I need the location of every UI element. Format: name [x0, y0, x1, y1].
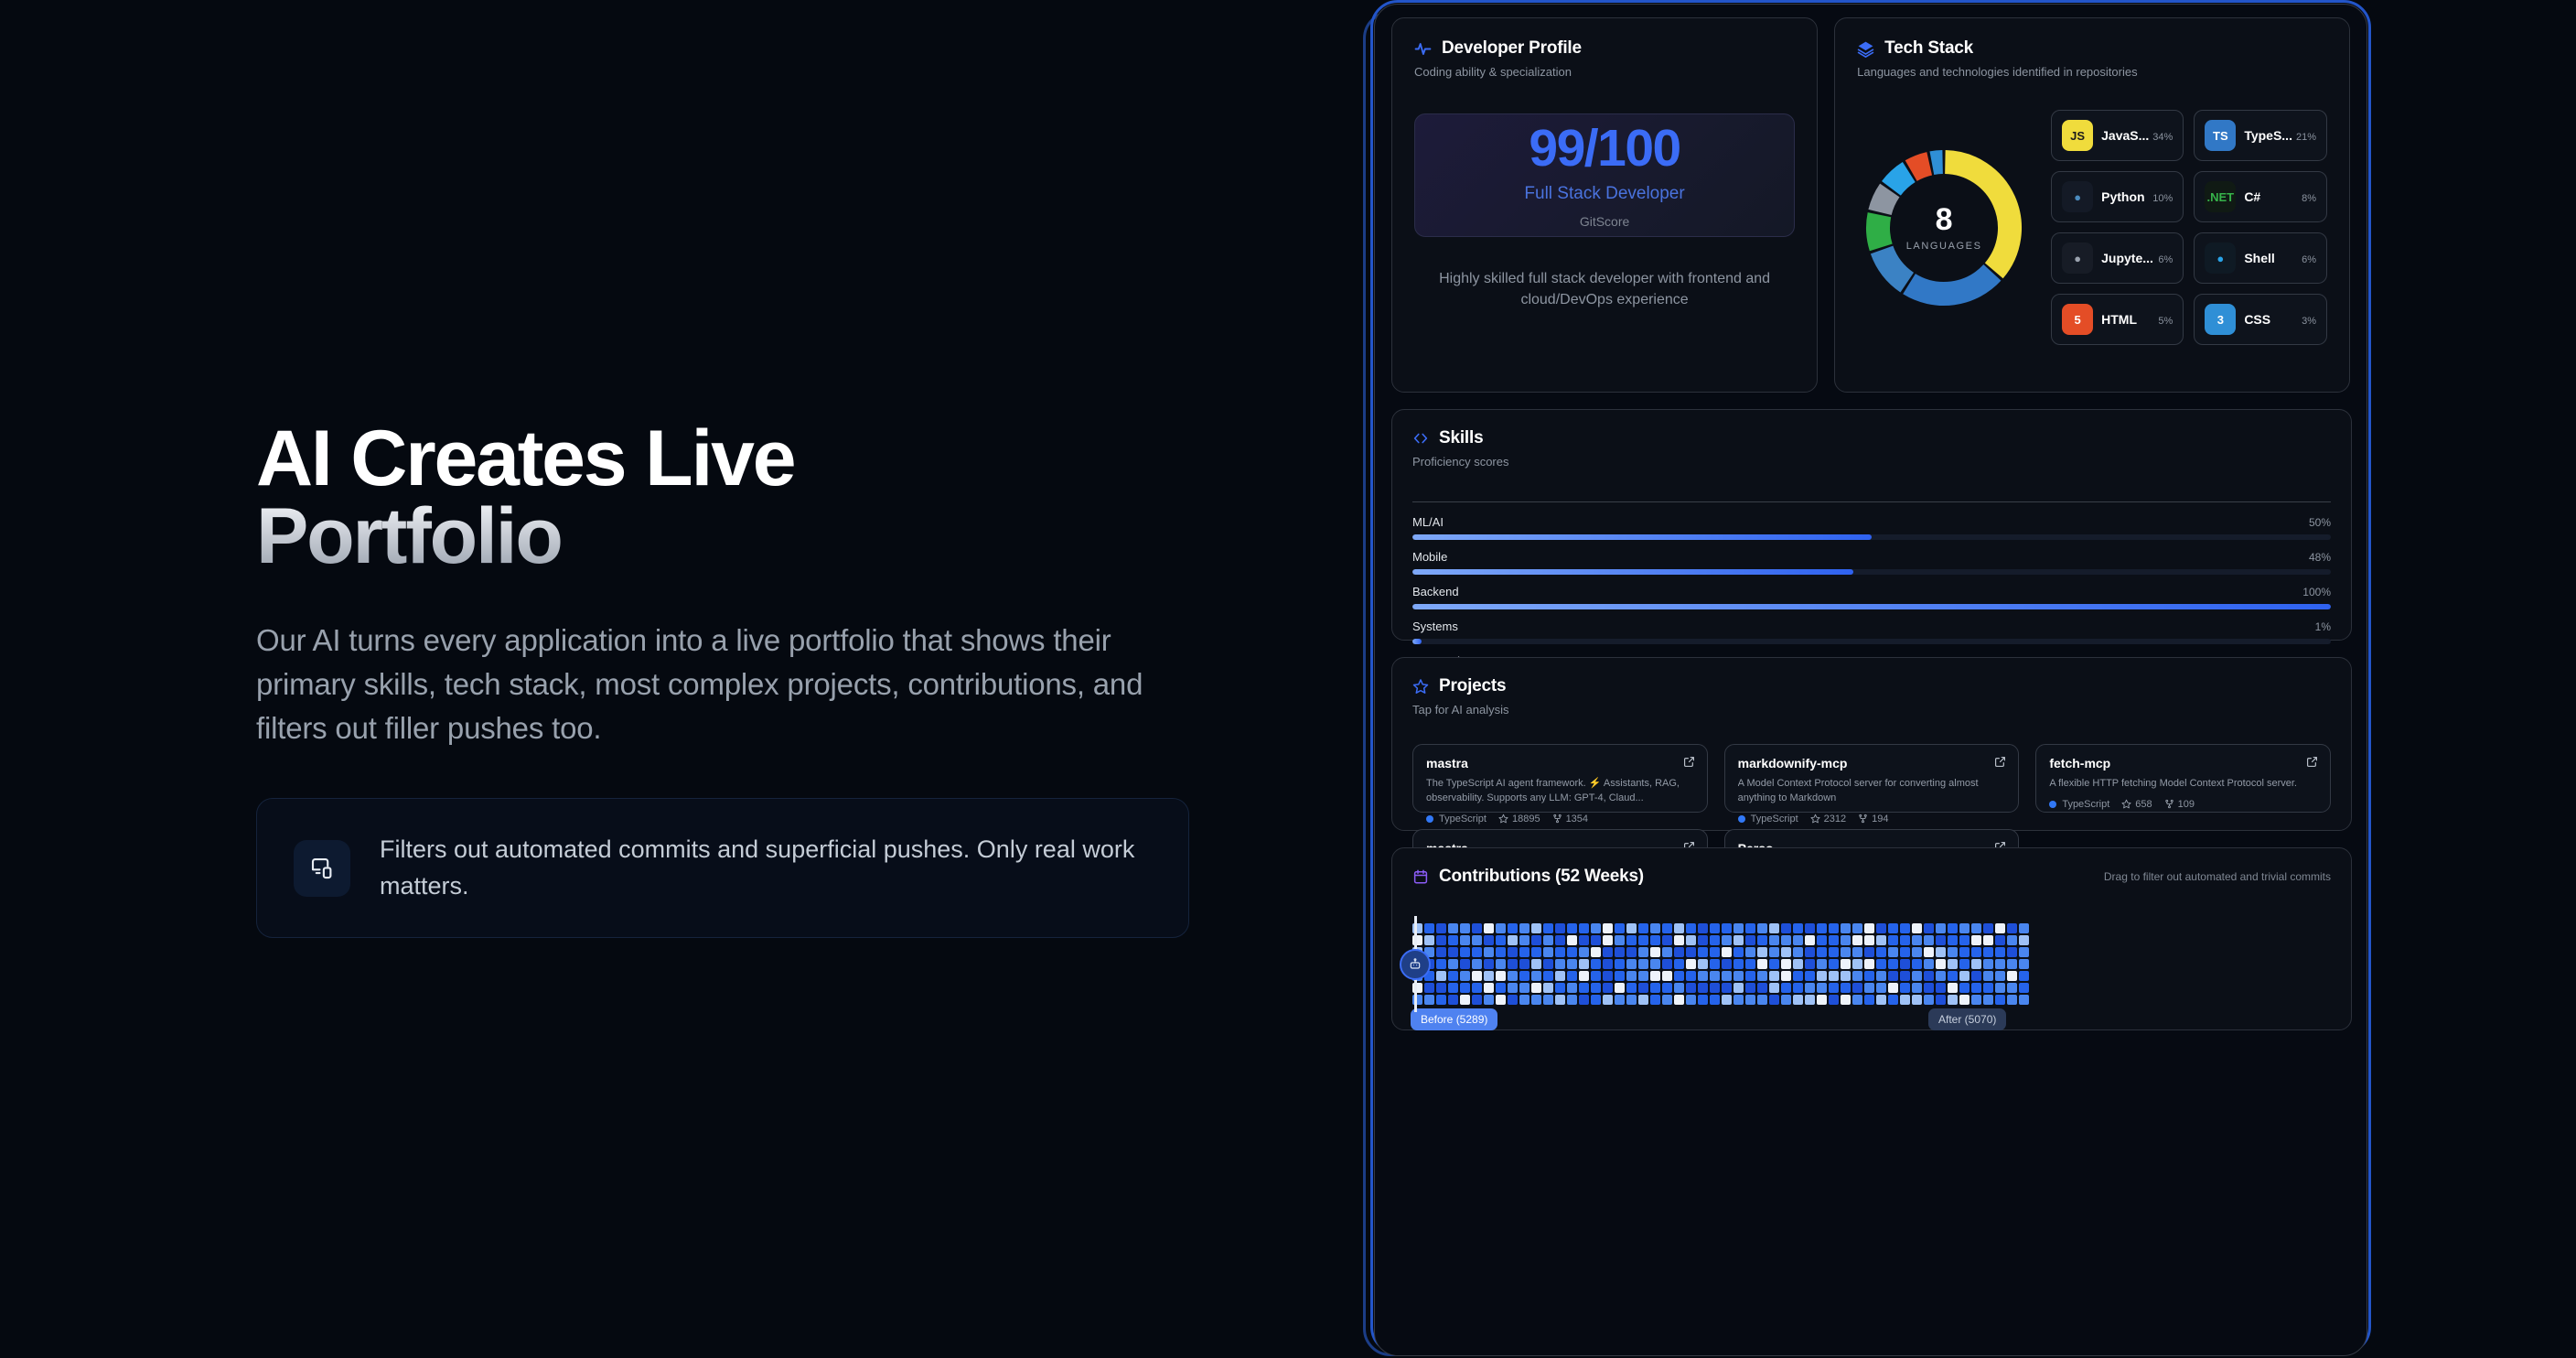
hero-section: AI Creates Live Portfolio Our AI turns e… [0, 0, 1363, 1358]
heatmap-day-cell [1472, 983, 1482, 993]
heatmap-day-cell [1591, 983, 1601, 993]
heatmap-day-cell [1591, 959, 1601, 969]
heatmap-day-cell [1662, 947, 1672, 957]
language-name: HTML [2101, 312, 2137, 327]
heatmap-day-cell [1876, 959, 1886, 969]
after-count-tag: After (5070) [1928, 1008, 2006, 1030]
heatmap-day-cell [1555, 971, 1565, 981]
skill-row: Mobile 48% [1412, 550, 2331, 575]
heatmap-week-column [1436, 923, 1446, 1005]
heatmap-day-cell [1555, 959, 1565, 969]
heatmap-day-cell [1864, 947, 1874, 957]
heatmap-day-cell [1733, 959, 1744, 969]
heatmap-day-cell [1460, 923, 1470, 933]
skill-fill [1412, 534, 1872, 540]
heatmap-day-cell [1888, 923, 1898, 933]
heatmap-day-cell [1674, 983, 1684, 993]
heatmap-day-cell [1436, 935, 1446, 945]
heatmap-week-column [1781, 923, 1791, 1005]
heatmap-day-cell [1484, 935, 1494, 945]
heatmap-day-cell [1912, 983, 1922, 993]
heatmap-day-cell [1722, 971, 1732, 981]
heatmap-day-cell [1626, 995, 1637, 1005]
heatmap-day-cell [1626, 959, 1637, 969]
heatmap-day-cell [1757, 947, 1767, 957]
language-percent: 6% [2158, 254, 2173, 265]
dashboard-preview: Developer Profile Coding ability & speci… [1354, 0, 2378, 1358]
heatmap-day-cell [1698, 995, 1708, 1005]
skill-percent: 48% [2309, 551, 2331, 564]
heatmap-week-column [1829, 923, 1839, 1005]
heatmap-day-cell [1662, 995, 1672, 1005]
heatmap-day-cell [1710, 995, 1720, 1005]
heatmap-day-cell [1959, 923, 1970, 933]
heatmap-day-cell [1936, 959, 1946, 969]
heatmap-day-cell [1769, 995, 1779, 1005]
heatmap-day-cell [1603, 995, 1613, 1005]
skill-track [1412, 639, 2331, 644]
heatmap-day-cell [1924, 923, 1934, 933]
heatmap-day-cell [1805, 971, 1815, 981]
heatmap-day-cell [1912, 995, 1922, 1005]
project-forks: 194 [1858, 814, 1888, 824]
hero-title-line2: Portfolio [256, 498, 1189, 575]
skill-percent: 1% [2315, 620, 2331, 633]
heatmap-week-column [1864, 923, 1874, 1005]
heatmap-day-cell [1912, 971, 1922, 981]
skill-percent: 50% [2309, 516, 2331, 529]
heatmap-day-cell [1888, 983, 1898, 993]
language-color-dot [1426, 815, 1433, 823]
heatmap-day-cell [1769, 971, 1779, 981]
heatmap-day-cell [1971, 923, 1981, 933]
heatmap-day-cell [1745, 923, 1755, 933]
heatmap-day-cell [1959, 959, 1970, 969]
heatmap-day-cell [1733, 995, 1744, 1005]
heatmap-day-cell [1424, 935, 1434, 945]
star-icon [1412, 678, 1429, 695]
language-list: JS JavaS... 34% TS TypeS... 21% ● Pyt [2051, 110, 2327, 345]
project-name: mastra [1426, 756, 1694, 771]
heatmap-day-cell [1508, 935, 1518, 945]
skill-fill [1412, 639, 1422, 644]
heatmap-day-cell [1472, 947, 1482, 957]
heatmap-week-column [1936, 923, 1946, 1005]
heatmap-day-cell [1733, 983, 1744, 993]
heatmap-day-cell [1995, 935, 2005, 945]
heatmap-day-cell [1805, 959, 1815, 969]
language-percent: 6% [2302, 254, 2316, 265]
heatmap-day-cell [2019, 947, 2029, 957]
heatmap-day-cell [1722, 947, 1732, 957]
heatmap-day-cell [1448, 995, 1458, 1005]
heatmap-day-cell [1793, 923, 1803, 933]
heatmap-day-cell [1852, 959, 1862, 969]
heatmap-day-cell [1496, 983, 1506, 993]
heatmap-day-cell [1983, 983, 1993, 993]
heatmap-day-cell [1638, 935, 1648, 945]
heatmap-day-cell [1603, 971, 1613, 981]
project-forks: 109 [2164, 799, 2195, 810]
heatmap-day-cell [1876, 983, 1886, 993]
heatmap-day-cell [1662, 923, 1672, 933]
heatmap-day-cell [1793, 995, 1803, 1005]
heatmap-day-cell [1615, 983, 1625, 993]
heatmap-day-cell [1698, 935, 1708, 945]
heatmap-day-cell [1983, 959, 1993, 969]
heatmap-week-column [1924, 923, 1934, 1005]
heatmap-day-cell [1519, 995, 1529, 1005]
heatmap-day-cell [1424, 923, 1434, 933]
heatmap-week-column [1662, 923, 1672, 1005]
heatmap-day-cell [1603, 935, 1613, 945]
language-card[interactable]: ● Jupyte... 6% [2051, 232, 2184, 284]
heatmap-day-cell [1448, 923, 1458, 933]
external-link-icon[interactable] [2306, 756, 2318, 768]
layers-icon [1857, 40, 1874, 58]
heatmap-day-cell [1983, 935, 1993, 945]
heatmap-day-cell [1686, 923, 1696, 933]
heatmap-week-column [1733, 923, 1744, 1005]
project-name: fetch-mcp [2049, 756, 2317, 771]
tech-stack-subtitle: Languages and technologies identified in… [1857, 65, 2327, 79]
heatmap-day-cell [1531, 959, 1541, 969]
activity-pulse-icon [1414, 40, 1432, 58]
contributions-card: Contributions (52 Weeks) Drag to filter … [1391, 847, 2352, 1030]
heatmap-day-cell [1436, 923, 1446, 933]
heatmap-day-cell [1519, 959, 1529, 969]
heatmap-day-cell [1781, 983, 1791, 993]
heatmap-day-cell [1674, 935, 1684, 945]
heatmap-day-cell [1591, 935, 1601, 945]
heatmap-day-cell [1745, 935, 1755, 945]
code-brackets-icon [1412, 430, 1429, 447]
heatmap-week-column [1817, 923, 1827, 1005]
page-title: AI Creates Live Portfolio [256, 420, 1189, 575]
heatmap-day-cell [1484, 971, 1494, 981]
heatmap-day-cell [1781, 995, 1791, 1005]
language-percent: 3% [2302, 316, 2316, 327]
heatmap-day-cell [1508, 971, 1518, 981]
heatmap-day-cell [1805, 983, 1815, 993]
heatmap-week-column [2007, 923, 2017, 1005]
heatmap-day-cell [1555, 935, 1565, 945]
heatmap-week-column [1745, 923, 1755, 1005]
heatmap-day-cell [1722, 923, 1732, 933]
heatmap-day-cell [1710, 923, 1720, 933]
heatmap-day-cell [1769, 983, 1779, 993]
heatmap-day-cell [1686, 947, 1696, 957]
heatmap-day-cell [1841, 923, 1851, 933]
heatmap-day-cell [1448, 959, 1458, 969]
heatmap-day-cell [1805, 995, 1815, 1005]
heatmap-day-cell [1864, 995, 1874, 1005]
contributions-heatmap[interactable]: Before (5289) After (5070) [1412, 923, 2331, 1005]
language-color-dot [1738, 815, 1745, 823]
heatmap-day-cell [1841, 947, 1851, 957]
heatmap-day-cell [1662, 935, 1672, 945]
heatmap-day-cell [1519, 971, 1529, 981]
language-card[interactable]: .NET C# 8% [2194, 171, 2327, 222]
heatmap-day-cell [1852, 935, 1862, 945]
heatmap-day-cell [2019, 995, 2029, 1005]
project-description: A flexible HTTP fetching Model Context P… [2049, 777, 2317, 792]
developer-profile-title: Developer Profile [1442, 38, 1582, 59]
heatmap-day-cell [1674, 947, 1684, 957]
heatmap-day-cell [2019, 959, 2029, 969]
heatmap-day-cell [1460, 995, 1470, 1005]
heatmap-day-cell [1829, 995, 1839, 1005]
external-link-icon[interactable] [1683, 756, 1695, 768]
language-card[interactable]: TS TypeS... 21% [2194, 110, 2327, 161]
heatmap-week-column [1638, 923, 1648, 1005]
heatmap-week-column [1805, 923, 1815, 1005]
heatmap-day-cell [1912, 923, 1922, 933]
language-card[interactable]: JS JavaS... 34% [2051, 110, 2184, 161]
heatmap-week-column [1555, 923, 1565, 1005]
heatmap-day-cell [1841, 995, 1851, 1005]
heatmap-day-cell [1460, 959, 1470, 969]
skill-row: Systems 1% [1412, 620, 2331, 644]
heatmap-day-cell [1829, 983, 1839, 993]
heatmap-day-cell [1971, 995, 1981, 1005]
heatmap-day-cell [1686, 995, 1696, 1005]
heatmap-day-cell [1508, 959, 1518, 969]
language-card[interactable]: 5 HTML 5% [2051, 294, 2184, 345]
heatmap-week-column [1710, 923, 1720, 1005]
heatmap-day-cell [1710, 971, 1720, 981]
heatmap-day-cell [1876, 947, 1886, 957]
heatmap-day-cell [1543, 923, 1553, 933]
heatmap-day-cell [1733, 923, 1744, 933]
heatmap-week-column [1959, 923, 1970, 1005]
heatmap-day-cell [1472, 923, 1482, 933]
heatmap-day-cell [1710, 959, 1720, 969]
heatmap-week-column [1995, 923, 2005, 1005]
heatmap-day-cell [2007, 995, 2017, 1005]
heatmap-day-cell [1484, 959, 1494, 969]
gitscore-role: Full Stack Developer [1524, 184, 1684, 204]
filter-drag-handle[interactable] [1400, 949, 1431, 980]
heatmap-day-cell [1876, 971, 1886, 981]
heatmap-day-cell [1829, 935, 1839, 945]
heatmap-week-column [1519, 923, 1529, 1005]
before-count-tag: Before (5289) [1411, 1008, 1497, 1030]
heatmap-day-cell [1460, 971, 1470, 981]
heatmap-week-column [1674, 923, 1684, 1005]
screen-share-icon [294, 840, 350, 897]
heatmap-day-cell [2019, 935, 2029, 945]
skill-row: ML/AI 50% [1412, 515, 2331, 540]
gitscore-value: 99/100 [1529, 123, 1680, 175]
heatmap-day-cell [1626, 971, 1637, 981]
heatmap-day-cell [1817, 995, 1827, 1005]
heatmap-day-cell [1769, 923, 1779, 933]
skill-fill [1412, 604, 2331, 609]
hero-callout-text: Filters out automated commits and superf… [380, 832, 1152, 903]
heatmap-day-cell [1615, 971, 1625, 981]
heatmap-day-cell [1888, 971, 1898, 981]
heatmap-day-cell [1948, 995, 1958, 1005]
heatmap-day-cell [1793, 935, 1803, 945]
heatmap-day-cell [1852, 971, 1862, 981]
heatmap-day-cell [1591, 995, 1601, 1005]
heatmap-day-cell [1567, 935, 1577, 945]
heatmap-day-cell [1936, 923, 1946, 933]
heatmap-day-cell [1864, 959, 1874, 969]
skill-track [1412, 534, 2331, 540]
heatmap-day-cell [1543, 995, 1553, 1005]
heatmap-week-column [1626, 923, 1637, 1005]
heatmap-day-cell [1995, 947, 2005, 957]
heatmap-day-cell [1733, 971, 1744, 981]
heatmap-week-column [1852, 923, 1862, 1005]
heatmap-day-cell [1971, 971, 1981, 981]
project-language: TypeScript [2049, 799, 2109, 810]
heatmap-day-cell [1698, 947, 1708, 957]
hero-subtitle: Our AI turns every application into a li… [256, 619, 1180, 751]
heatmap-day-cell [1924, 959, 1934, 969]
heatmap-week-column [2019, 923, 2029, 1005]
heatmap-day-cell [1638, 995, 1648, 1005]
heatmap-day-cell [1448, 947, 1458, 957]
heatmap-day-cell [1519, 935, 1529, 945]
project-card[interactable]: fetch-mcp A flexible HTTP fetching Model… [2035, 744, 2331, 813]
heatmap-day-cell [2007, 971, 2017, 981]
heatmap-week-column [1793, 923, 1803, 1005]
project-stars: 658 [2121, 799, 2152, 810]
heatmap-day-cell [1948, 947, 1958, 957]
heatmap-day-cell [1543, 971, 1553, 981]
heatmap-day-cell [1757, 983, 1767, 993]
heatmap-day-cell [2007, 959, 2017, 969]
heatmap-day-cell [1793, 947, 1803, 957]
heatmap-day-cell [1959, 947, 1970, 957]
heatmap-day-cell [1971, 959, 1981, 969]
heatmap-day-cell [1555, 947, 1565, 957]
gitscore-box: 99/100 Full Stack Developer GitScore [1414, 113, 1795, 237]
heatmap-day-cell [1508, 923, 1518, 933]
heatmap-day-cell [1912, 947, 1922, 957]
heatmap-day-cell [2019, 923, 2029, 933]
heatmap-day-cell [1864, 935, 1874, 945]
donut-count: 8 [1936, 204, 1953, 235]
heatmap-day-cell [1496, 959, 1506, 969]
heatmap-day-cell [1781, 971, 1791, 981]
heatmap-day-cell [1959, 935, 1970, 945]
heatmap-day-cell [1567, 959, 1577, 969]
dotnet-icon: .NET [2205, 181, 2236, 212]
heatmap-day-cell [1924, 935, 1934, 945]
heatmap-day-cell [1543, 959, 1553, 969]
heatmap-week-column [1615, 923, 1625, 1005]
heatmap-day-cell [1424, 995, 1434, 1005]
heatmap-day-cell [1959, 971, 1970, 981]
heatmap-day-cell [1817, 959, 1827, 969]
heatmap-day-cell [1508, 947, 1518, 957]
language-percent: 10% [2152, 193, 2173, 204]
heatmap-day-cell [1496, 923, 1506, 933]
heatmap-day-cell [1484, 983, 1494, 993]
heatmap-week-column [1603, 923, 1613, 1005]
heatmap-day-cell [1519, 923, 1529, 933]
skill-name: Mobile [1412, 550, 1447, 564]
heatmap-day-cell [1852, 923, 1862, 933]
heatmap-day-cell [1995, 983, 2005, 993]
heatmap-day-cell [1496, 935, 1506, 945]
heatmap-week-column [1448, 923, 1458, 1005]
skill-track [1412, 604, 2331, 609]
heatmap-week-column [1484, 923, 1494, 1005]
heatmap-day-cell [1591, 923, 1601, 933]
heatmap-day-cell [1638, 947, 1648, 957]
language-card[interactable]: 3 CSS 3% [2194, 294, 2327, 345]
heatmap-day-cell [1805, 935, 1815, 945]
heatmap-day-cell [1579, 995, 1589, 1005]
heatmap-day-cell [1722, 935, 1732, 945]
heatmap-day-cell [1638, 971, 1648, 981]
heatmap-day-cell [1674, 923, 1684, 933]
shell-icon: ● [2205, 242, 2236, 274]
heatmap-day-cell [1852, 995, 1862, 1005]
heatmap-day-cell [1936, 971, 1946, 981]
calendar-icon [1412, 868, 1429, 885]
heatmap-day-cell [1555, 923, 1565, 933]
language-card[interactable]: ● Python 10% [2051, 171, 2184, 222]
heatmap-day-cell [1448, 935, 1458, 945]
heatmap-day-cell [1472, 935, 1482, 945]
external-link-icon[interactable] [1994, 756, 2006, 768]
heatmap-day-cell [1638, 959, 1648, 969]
skill-track [1412, 569, 2331, 575]
heatmap-day-cell [1864, 971, 1874, 981]
heatmap-day-cell [1555, 983, 1565, 993]
language-card[interactable]: ● Shell 6% [2194, 232, 2327, 284]
heatmap-day-cell [1579, 947, 1589, 957]
heatmap-day-cell [1674, 959, 1684, 969]
heatmap-day-cell [1841, 935, 1851, 945]
heatmap-day-cell [1900, 971, 1910, 981]
heatmap-day-cell [1567, 995, 1577, 1005]
heatmap-week-column [1543, 923, 1553, 1005]
heatmap-week-column [1888, 923, 1898, 1005]
heatmap-day-cell [1995, 959, 2005, 969]
heatmap-week-column [1496, 923, 1506, 1005]
heatmap-day-cell [1983, 947, 1993, 957]
heatmap-day-cell [1888, 947, 1898, 957]
project-card[interactable]: mastra The TypeScript AI agent framework… [1412, 744, 1708, 813]
heatmap-week-column [1722, 923, 1732, 1005]
project-card[interactable]: markdownify-mcp A Model Context Protocol… [1724, 744, 2020, 813]
heatmap-day-cell [1650, 983, 1660, 993]
heatmap-day-cell [2019, 983, 2029, 993]
heatmap-day-cell [2019, 971, 2029, 981]
heatmap-day-cell [1650, 923, 1660, 933]
heatmap-day-cell [1460, 935, 1470, 945]
heatmap-day-cell [1948, 959, 1958, 969]
heatmap-day-cell [1615, 935, 1625, 945]
heatmap-week-column [1567, 923, 1577, 1005]
heatmap-day-cell [1591, 947, 1601, 957]
heatmap-day-cell [1496, 971, 1506, 981]
developer-profile-card: Developer Profile Coding ability & speci… [1391, 17, 1818, 393]
language-percent: 8% [2302, 193, 2316, 204]
heatmap-day-cell [1852, 983, 1862, 993]
heatmap-day-cell [1745, 971, 1755, 981]
heatmap-day-cell [1722, 983, 1732, 993]
language-percent: 21% [2296, 132, 2316, 143]
heatmap-day-cell [2007, 935, 2017, 945]
